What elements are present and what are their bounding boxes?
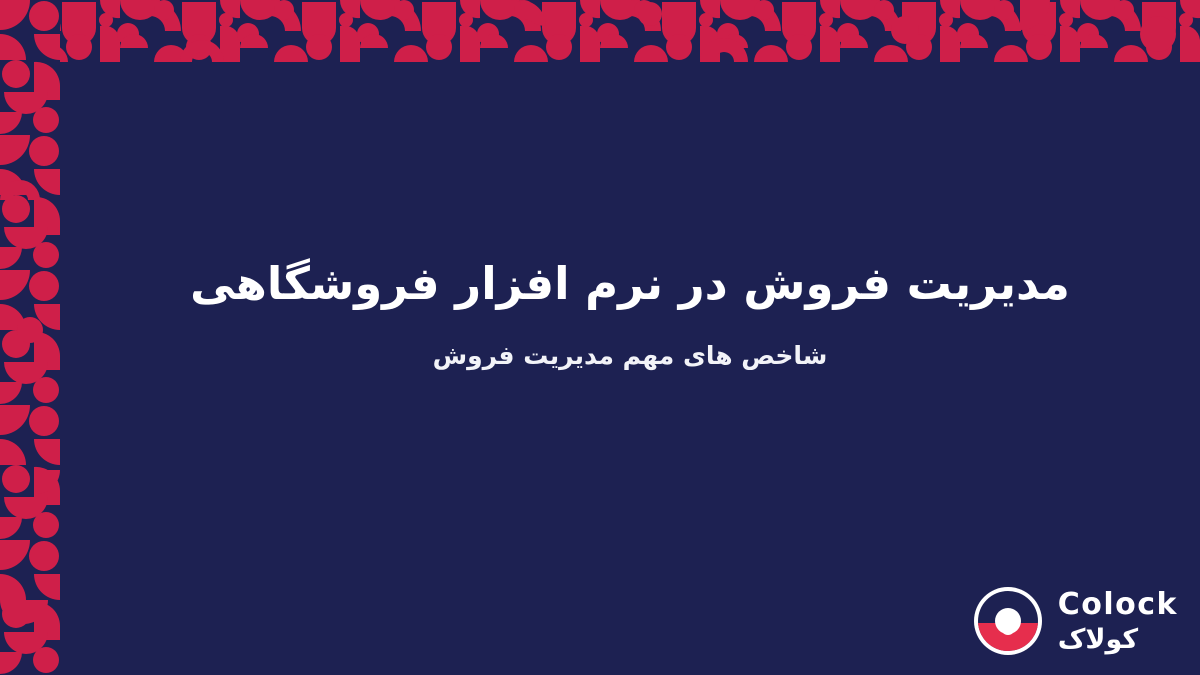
geometric-pattern-border-icon (0, 0, 1200, 62)
logo-latin-name: Colock (1058, 590, 1178, 620)
colock-circle-logo-icon (972, 585, 1044, 657)
slide-subtitle: شاخص های مهم مدیریت فروش (433, 338, 828, 373)
logo-wordmark: Colock کولاک (1058, 590, 1178, 653)
slide-title: مدیریت فروش در نرم افزار فروشگاهی (190, 254, 1070, 315)
logo-farsi-name: کولاک (1058, 626, 1138, 653)
slide-text-block: مدیریت فروش در نرم افزار فروشگاهی شاخص ه… (60, 62, 1200, 675)
geometric-pattern-border-icon (0, 0, 60, 675)
presentation-slide: مدیریت فروش در نرم افزار فروشگاهی شاخص ه… (0, 0, 1200, 675)
brand-logo: Colock کولاک (972, 585, 1178, 657)
